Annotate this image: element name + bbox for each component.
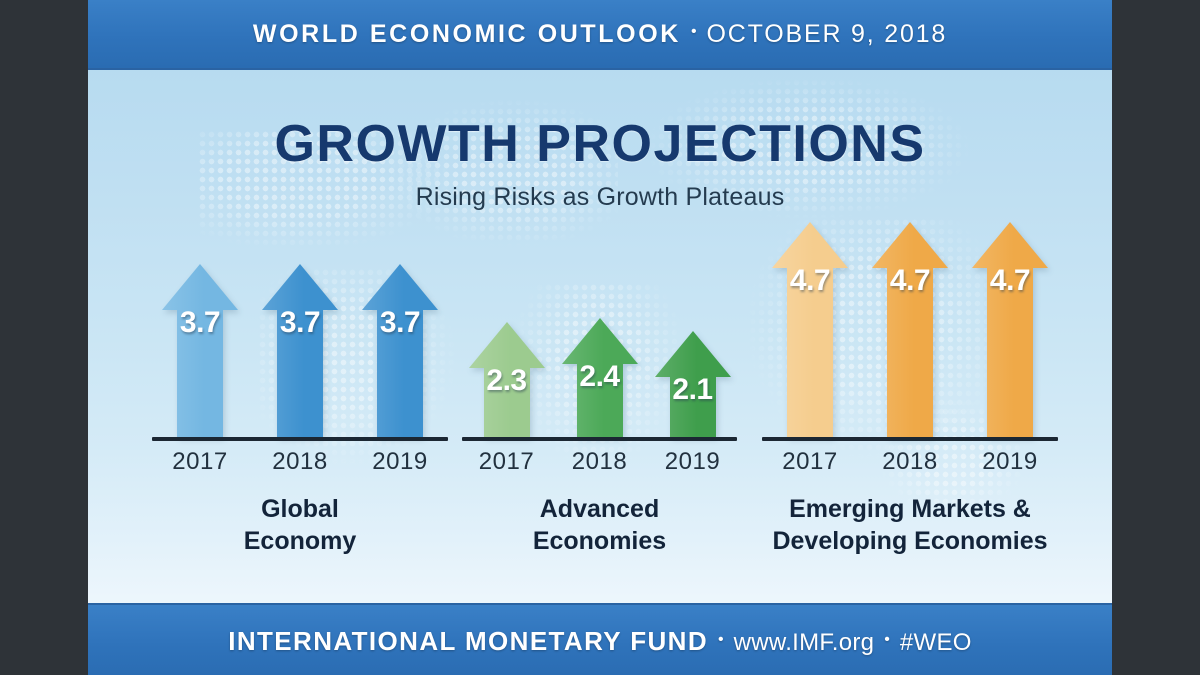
footer-website-link[interactable]: www.IMF.org bbox=[734, 629, 875, 656]
header-separator-dot: • bbox=[691, 23, 697, 41]
year-label: 2018 bbox=[860, 448, 960, 476]
up-arrow-icon: 4.7 bbox=[772, 222, 848, 437]
year-label: 2017 bbox=[760, 448, 860, 476]
chart-bar-column: 2.4 bbox=[562, 318, 638, 437]
footer-organization: INTERNATIONAL MONETARY FUND bbox=[228, 626, 708, 656]
growth-projections-chart: 3.720173.720183.72019Global Economy2.320… bbox=[88, 68, 1112, 603]
up-arrow-icon: 2.1 bbox=[655, 331, 731, 437]
chart-bar-column: 3.7 bbox=[262, 264, 338, 437]
infographic-stage: WORLD ECONOMIC OUTLOOK•OCTOBER 9, 2018 G… bbox=[0, 0, 1200, 675]
imf-weo-poster: WORLD ECONOMIC OUTLOOK•OCTOBER 9, 2018 G… bbox=[88, 0, 1112, 675]
up-arrow-icon: 2.3 bbox=[469, 322, 545, 437]
letterbox-left bbox=[0, 0, 88, 675]
up-arrow-icon: 3.7 bbox=[262, 264, 338, 437]
chart-group: 3.720173.720183.72019Global Economy bbox=[150, 68, 450, 603]
chart-bar-column: 4.7 bbox=[872, 222, 948, 437]
chart-group: 4.720174.720184.72019Emerging Markets & … bbox=[760, 68, 1060, 603]
up-arrow-icon: 3.7 bbox=[162, 264, 238, 437]
chart-baseline bbox=[762, 437, 1058, 441]
year-label: 2019 bbox=[646, 448, 739, 476]
up-arrow-icon: 2.4 bbox=[562, 318, 638, 437]
footer-hashtag[interactable]: #WEO bbox=[900, 629, 972, 656]
letterbox-right bbox=[1112, 0, 1200, 675]
chart-bar-column: 2.1 bbox=[655, 331, 731, 437]
chart-bar-column: 4.7 bbox=[772, 222, 848, 437]
chart-baseline bbox=[462, 437, 737, 441]
chart-bar-column: 2.3 bbox=[469, 322, 545, 437]
chart-group-label: Advanced Economies bbox=[460, 493, 739, 557]
year-label: 2019 bbox=[960, 448, 1060, 476]
up-arrow-icon: 3.7 bbox=[362, 264, 438, 437]
header-title: WORLD ECONOMIC OUTLOOK•OCTOBER 9, 2018 bbox=[253, 20, 947, 49]
poster-canvas: GROWTH PROJECTIONS Rising Risks as Growt… bbox=[88, 68, 1112, 603]
footer-separator-dot-1: • bbox=[718, 631, 724, 649]
year-label: 2019 bbox=[350, 448, 450, 476]
chart-group-label: Emerging Markets & Developing Economies bbox=[760, 493, 1060, 557]
year-label: 2018 bbox=[250, 448, 350, 476]
footer-text: INTERNATIONAL MONETARY FUND•www.IMF.org•… bbox=[228, 626, 972, 657]
year-label: 2017 bbox=[150, 448, 250, 476]
year-label: 2017 bbox=[460, 448, 553, 476]
year-label: 2018 bbox=[553, 448, 646, 476]
chart-group-label: Global Economy bbox=[150, 493, 450, 557]
chart-bar-column: 3.7 bbox=[162, 264, 238, 437]
chart-baseline bbox=[152, 437, 448, 441]
footer-separator-dot-2: • bbox=[884, 631, 890, 649]
footer-band: INTERNATIONAL MONETARY FUND•www.IMF.org•… bbox=[88, 603, 1112, 675]
chart-bar-column: 4.7 bbox=[972, 222, 1048, 437]
header-date: OCTOBER 9, 2018 bbox=[707, 20, 948, 48]
header-band: WORLD ECONOMIC OUTLOOK•OCTOBER 9, 2018 bbox=[88, 0, 1112, 70]
header-title-strong: WORLD ECONOMIC OUTLOOK bbox=[253, 20, 681, 48]
chart-bar-column: 3.7 bbox=[362, 264, 438, 437]
up-arrow-icon: 4.7 bbox=[972, 222, 1048, 437]
chart-group: 2.320172.420182.12019Advanced Economies bbox=[460, 68, 740, 603]
up-arrow-icon: 4.7 bbox=[872, 222, 948, 437]
